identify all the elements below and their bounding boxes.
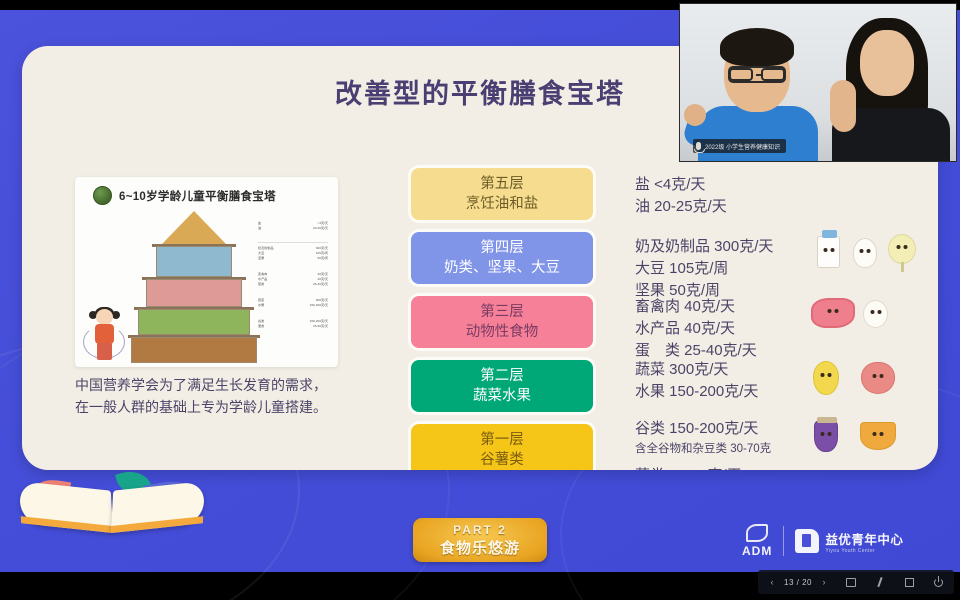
milk-sticker: [817, 236, 840, 268]
brand-divider: [783, 526, 784, 556]
soybean-sticker: [888, 234, 916, 264]
amount-group-oil-salt: 盐 <4克/天 油 20-25克/天: [635, 174, 727, 218]
yiyou-logo: 益优青年中心 Yiyou Youth Center: [795, 529, 903, 554]
microphone-icon: [696, 142, 701, 150]
presenter-adult-face: [860, 30, 914, 96]
adm-leaf-icon: [746, 524, 768, 542]
child-body: [95, 324, 114, 344]
lemon-sticker: [813, 361, 839, 395]
amount-row: 水果 150-200克/天: [635, 381, 758, 403]
amount-row: 水产品 40克/天: [635, 318, 757, 340]
power-icon[interactable]: [930, 576, 946, 588]
webcam-name-badge: 2022级 小学生营养健康知识: [693, 139, 786, 153]
presenter-child-hair: [720, 28, 794, 66]
caption-line-2: 在一般人群的基础上专为学龄儿童搭建。: [75, 396, 360, 418]
next-page-button[interactable]: ›: [818, 577, 830, 587]
layer-desc: 蔬菜水果: [473, 386, 531, 406]
pyramid-caption: 中国营养学会为了满足生长发育的需求， 在一般人群的基础上专为学龄儿童搭建。: [75, 374, 360, 418]
page-indicator: 13 / 20: [784, 578, 812, 587]
layer-desc: 奶类、坚果、大豆: [444, 258, 560, 278]
webcam-video-panel[interactable]: 2022级 小学生营养健康知识: [679, 3, 957, 162]
eyeglasses-icon: [728, 66, 786, 83]
layer-box-4: 第四层 奶类、坚果、大豆: [411, 232, 593, 284]
amount-row: 大豆 105克/周: [635, 258, 773, 280]
caption-line-1: 中国营养学会为了满足生长发育的需求，: [75, 374, 360, 396]
amount-row: 油 20-25克/天: [635, 196, 727, 218]
layer-name: 第五层: [480, 174, 524, 194]
child-hair-bun: [112, 311, 120, 319]
amount-row: 奶及奶制品 300克/天: [635, 236, 773, 258]
amount-row: 蔬菜 300克/天: [635, 359, 758, 381]
book-page-left: [19, 481, 113, 533]
brand-bar: ADM 益优青年中心 Yiyou Youth Center: [742, 524, 903, 558]
layer-desc: 烹饪油和盐: [466, 194, 539, 214]
amount-group-dairy-nuts-soy: 奶及奶制品 300克/天 大豆 105克/周 坚果 50克/周: [635, 236, 773, 302]
player-control-bar[interactable]: ‹ 13 / 20 ›: [758, 570, 954, 594]
eggplant-sticker: [814, 420, 838, 452]
egg-sticker: [863, 300, 888, 328]
pyramid-tier-3: [146, 279, 242, 307]
pyramid-tier-1: [131, 337, 257, 363]
pyramid-layer-list: 第五层 烹饪油和盐 第四层 奶类、坚果、大豆 第三层 动物性食物 第二层 蔬菜水…: [411, 168, 593, 470]
pyramid-graphic: [131, 211, 257, 361]
amount-row: 盐 <4克/天: [635, 174, 727, 196]
presenter-child-hand: [684, 104, 706, 126]
layer-name: 第三层: [480, 302, 524, 322]
grid-icon[interactable]: [901, 576, 917, 588]
apple-sticker: [861, 362, 895, 394]
pyramid-side-legend: 盐<4克/天 油20-25克/天 奶及奶制品300克/天 大豆105克/周 坚果…: [258, 221, 328, 340]
food-pyramid-image: 6~10岁学龄儿童平衡膳食宝塔 盐<4克/天 油20-25克/天: [75, 177, 338, 367]
pen-icon[interactable]: [872, 576, 888, 588]
layer-box-3: 第三层 动物性食物: [411, 296, 593, 348]
layer-name: 第二层: [480, 366, 524, 386]
layer-name: 第四层: [480, 238, 524, 258]
webcam-participant-name: 2022级 小学生营养健康知识: [705, 142, 780, 151]
child-head: [96, 309, 113, 325]
amount-group-vegetables-fruits: 蔬菜 300克/天 水果 150-200克/天: [635, 359, 758, 403]
layer-box-5: 第五层 烹饪油和盐: [411, 168, 593, 220]
screen-root: 改善型的平衡膳食宝塔 6~10岁学龄儿童平衡膳食宝塔 盐<4克/天: [0, 0, 960, 600]
yiyou-mark-icon: [795, 529, 819, 553]
layer-box-1: 第一层 谷薯类: [411, 424, 593, 470]
part-label: PART 2: [453, 523, 507, 537]
meat-sticker: [811, 298, 855, 328]
presenter-child-body: [698, 106, 818, 162]
open-book-decoration: [14, 466, 212, 536]
screen-icon[interactable]: [843, 576, 859, 588]
book-page-right: [111, 481, 205, 533]
layer-name: 第一层: [480, 430, 524, 450]
amount-row: 谷类 150-200克/天: [635, 418, 771, 440]
child-illustration: [89, 309, 123, 361]
child-legs: [97, 343, 112, 360]
prev-page-button[interactable]: ‹: [766, 577, 778, 587]
pyramid-image-header: 6~10岁学龄儿童平衡膳食宝塔: [75, 177, 338, 205]
amount-group-animal-foods: 畜禽肉 40克/天 水产品 40克/天 蛋 类 25-40克/天: [635, 296, 757, 362]
pyramid-tier-4: [156, 246, 232, 277]
adm-logo: ADM: [742, 524, 772, 558]
amount-row: 薯类 25-50克/天: [635, 465, 771, 470]
amount-group-grains-tubers: 谷类 150-200克/天 含全谷物和杂豆类 30-70克 薯类 25-50克/…: [635, 418, 771, 470]
part-title: 食物乐悠游: [440, 537, 520, 558]
layer-box-2: 第二层 蔬菜水果: [411, 360, 593, 412]
yiyou-name-cn: 益优青年中心: [825, 529, 903, 548]
thumbs-up-gesture: [830, 80, 856, 130]
amount-row: 畜禽肉 40克/天: [635, 296, 757, 318]
amount-subnote: 含全谷物和杂豆类 30-70克: [635, 440, 771, 459]
adm-wordmark: ADM: [742, 544, 772, 558]
layer-desc: 动物性食物: [466, 322, 539, 342]
pyramid-tier-2: [138, 309, 250, 335]
pyramid-tier-5: [162, 211, 226, 244]
yiyou-name-en: Yiyou Youth Center: [825, 548, 903, 554]
society-seal-icon: [93, 186, 112, 205]
nut-sticker: [853, 238, 877, 268]
layer-desc: 谷薯类: [480, 450, 524, 470]
bowl-sticker: [860, 422, 896, 450]
pyramid-image-title: 6~10岁学龄儿童平衡膳食宝塔: [119, 188, 276, 204]
part-badge: PART 2 食物乐悠游: [413, 518, 547, 562]
